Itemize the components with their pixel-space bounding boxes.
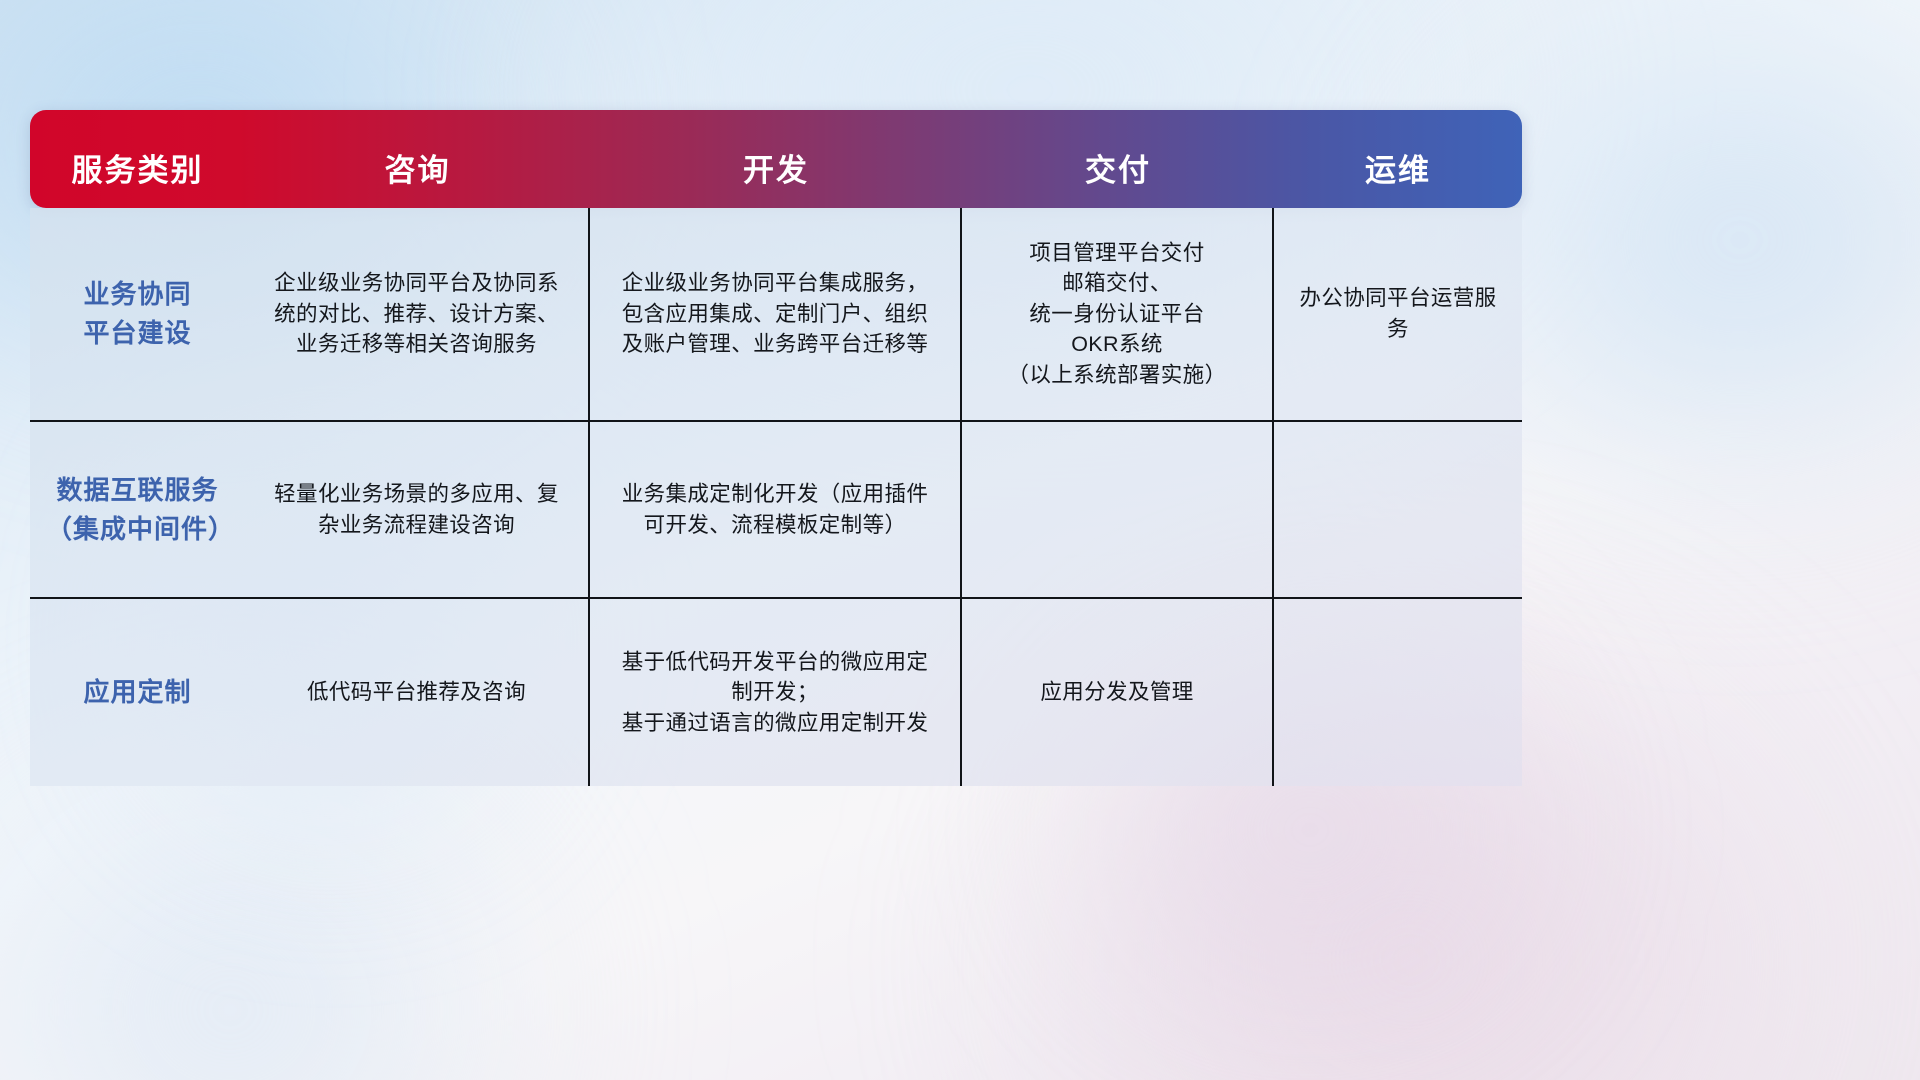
table-row: 数据互联服务 （集成中间件） 轻量化业务场景的多应用、复 杂业务流程建设咨询 业… [30,420,1522,597]
column-header-service-category: 服务类别 [30,145,245,208]
cell-operations: 办公协同平台运营服务 [1274,208,1522,420]
cell-development: 业务集成定制化开发（应用插件 可开发、流程模板定制等） [590,422,962,597]
cell-delivery: 项目管理平台交付 邮箱交付、 统一身份认证平台 OKR系统 （以上系统部署实施） [962,208,1274,420]
table-row: 应用定制 低代码平台推荐及咨询 基于低代码开发平台的微应用定 制开发； 基于通过… [30,597,1522,786]
cell-delivery [962,422,1274,597]
cell-development: 企业级业务协同平台集成服务， 包含应用集成、定制门户、组织 及账户管理、业务跨平… [590,208,962,420]
row-category-label: 业务协同 平台建设 [30,208,245,420]
table-body: 业务协同 平台建设 企业级业务协同平台及协同系 统的对比、推荐、设计方案、 业务… [30,208,1522,786]
column-header-operations: 运维 [1274,145,1522,208]
column-header-consulting: 咨询 [245,145,590,208]
cell-delivery: 应用分发及管理 [962,599,1274,786]
table-row: 业务协同 平台建设 企业级业务协同平台及协同系 统的对比、推荐、设计方案、 业务… [30,208,1522,420]
row-category-label: 数据互联服务 （集成中间件） [30,422,245,597]
cell-operations [1274,422,1522,597]
cell-consulting: 轻量化业务场景的多应用、复 杂业务流程建设咨询 [245,422,590,597]
cell-operations [1274,599,1522,786]
column-header-development: 开发 [590,145,962,208]
cell-consulting: 企业级业务协同平台及协同系 统的对比、推荐、设计方案、 业务迁移等相关咨询服务 [245,208,590,420]
cell-consulting: 低代码平台推荐及咨询 [245,599,590,786]
row-category-label: 应用定制 [30,599,245,786]
cell-development: 基于低代码开发平台的微应用定 制开发； 基于通过语言的微应用定制开发 [590,599,962,786]
table-header-row: 服务类别 咨询 开发 交付 运维 [30,110,1522,208]
column-header-delivery: 交付 [962,145,1274,208]
service-matrix-table: 服务类别 咨询 开发 交付 运维 业务协同 平台建设 企业级业务协同平台及协同系… [30,110,1522,786]
